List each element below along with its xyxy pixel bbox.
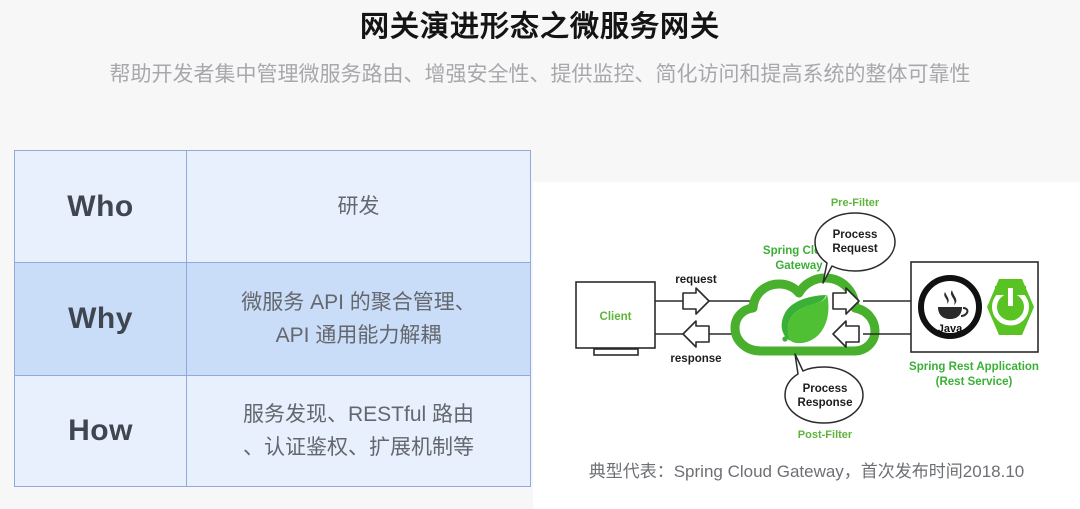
- table-row-value: 微服务 API 的聚合管理、 API 通用能力解耦: [187, 263, 530, 375]
- response-arrow-icon: [683, 321, 709, 347]
- response-label: response: [670, 353, 721, 365]
- table-cell-line: 、认证鉴权、扩展机制等: [243, 431, 474, 464]
- table-row-key: Who: [15, 151, 187, 262]
- table-row-value: 研发: [187, 151, 530, 262]
- table-row-value: 服务发现、RESTful 路由 、认证鉴权、扩展机制等: [187, 376, 530, 486]
- who-why-how-table: Who 研发 Why 微服务 API 的聚合管理、 API 通用能力解耦 How…: [14, 150, 531, 487]
- spring-rest-application-node: Java Spring Rest Application (Rest Servi…: [909, 262, 1039, 388]
- table-row: How 服务发现、RESTful 路由 、认证鉴权、扩展机制等: [15, 376, 530, 486]
- table-cell-line: 研发: [338, 190, 380, 223]
- pre-filter-label: Pre-Filter: [831, 197, 880, 209]
- diagram-svg: Client request response Spring Cloud Gat…: [533, 182, 1080, 472]
- gateway-label-line2: Gateway: [775, 260, 823, 272]
- table-row: Why 微服务 API 的聚合管理、 API 通用能力解耦: [15, 263, 530, 376]
- spring-cloud-gateway-diagram: Client request response Spring Cloud Gat…: [533, 182, 1080, 509]
- pre-filter-callout: Pre-Filter Process Request: [815, 197, 895, 283]
- java-label: Java: [938, 323, 963, 335]
- post-filter-label: Post-Filter: [798, 429, 853, 441]
- table-cell-line: 服务发现、RESTful 路由: [243, 398, 474, 431]
- table-cell-line: API 通用能力解耦: [241, 319, 476, 352]
- table-row-key: How: [15, 376, 187, 486]
- app-label-line1: Spring Rest Application: [909, 361, 1039, 373]
- post-filter-callout: Process Response Post-Filter: [785, 354, 863, 441]
- table-cell-line: 微服务 API 的聚合管理、: [241, 286, 476, 319]
- page-subtitle: 帮助开发者集中管理微服务路由、增强安全性、提供监控、简化访问和提高系统的整体可靠…: [0, 60, 1080, 90]
- table-row-key: Why: [15, 263, 187, 375]
- table-row: Who 研发: [15, 151, 530, 263]
- request-arrow-icon: [683, 288, 709, 314]
- process-request-line1: Process: [833, 229, 878, 241]
- client-label: Client: [600, 311, 632, 323]
- app-label-line2: (Rest Service): [936, 376, 1013, 388]
- process-response-line1: Process: [803, 383, 848, 395]
- process-request-line2: Request: [832, 243, 878, 255]
- slide-root: 网关演进形态之微服务网关 帮助开发者集中管理微服务路由、增强安全性、提供监控、简…: [0, 0, 1080, 509]
- client-node: Client: [576, 282, 655, 355]
- diagram-caption: 典型代表：Spring Cloud Gateway，首次发布时间2018.10: [533, 457, 1080, 482]
- java-logo-icon: Java: [921, 278, 979, 336]
- process-response-line2: Response: [798, 397, 853, 409]
- request-label: request: [675, 274, 717, 286]
- page-title: 网关演进形态之微服务网关: [0, 8, 1080, 46]
